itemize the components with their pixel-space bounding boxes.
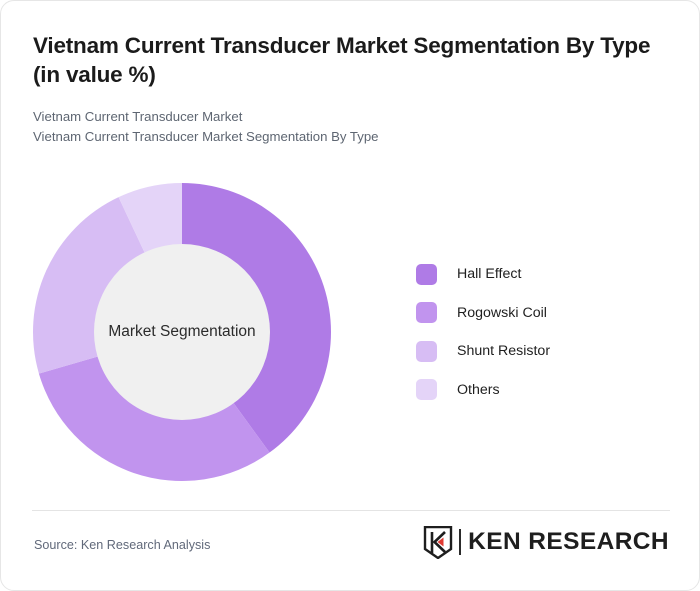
legend-item[interactable]: Shunt Resistor bbox=[416, 340, 550, 362]
legend-item-label: Rogowski Coil bbox=[457, 305, 547, 321]
ken-research-logo: KEN RESEARCH bbox=[423, 525, 669, 559]
chart-plot-area: Market Segmentation Hall EffectRogowski … bbox=[1, 1, 700, 591]
chart-legend: Hall EffectRogowski CoilShunt ResistorOt… bbox=[416, 263, 550, 417]
legend-item[interactable]: Others bbox=[416, 379, 550, 401]
donut-svg bbox=[33, 183, 331, 481]
legend-item-label: Hall Effect bbox=[457, 266, 521, 282]
ken-research-logo-mark bbox=[423, 526, 453, 559]
source-note: Source: Ken Research Analysis bbox=[34, 538, 210, 552]
chart-card: Vietnam Current Transducer Market Segmen… bbox=[0, 0, 700, 591]
legend-item[interactable]: Hall Effect bbox=[416, 263, 550, 285]
footer-divider bbox=[32, 510, 670, 511]
donut-chart: Market Segmentation bbox=[33, 183, 331, 481]
donut-hole bbox=[94, 244, 270, 420]
legend-swatch bbox=[416, 302, 437, 323]
legend-swatch bbox=[416, 379, 437, 400]
logo-wordmark: KEN RESEARCH bbox=[468, 528, 669, 556]
legend-item[interactable]: Rogowski Coil bbox=[416, 302, 550, 324]
logo-separator bbox=[459, 529, 461, 555]
legend-swatch bbox=[416, 264, 437, 285]
legend-item-label: Shunt Resistor bbox=[457, 343, 550, 359]
legend-swatch bbox=[416, 341, 437, 362]
legend-item-label: Others bbox=[457, 382, 500, 398]
